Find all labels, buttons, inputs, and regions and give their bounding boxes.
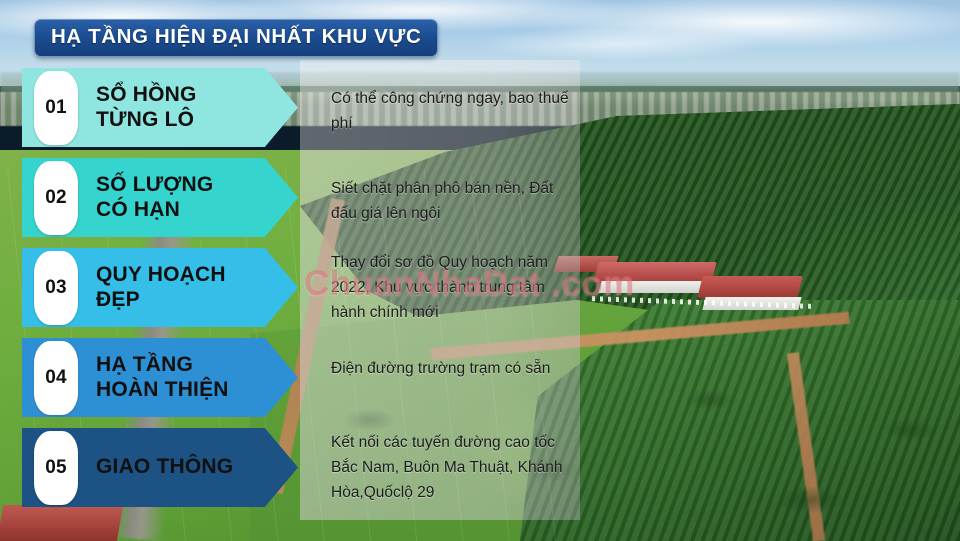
- infographic-poster: HẠ TẦNG HIỆN ĐẠI NHẤT KHU VỰC ChuanNhaDa…: [0, 0, 960, 541]
- feature-description-4: Điện đường trường trạm có sẵn: [331, 356, 581, 381]
- red-roof-building-4: [0, 505, 123, 541]
- feature-title-2: SỐ LƯỢNG CÓ HẠN: [96, 173, 213, 221]
- feature-title-2-line2: CÓ HẠN: [96, 198, 213, 222]
- feature-title-3: QUY HOẠCH ĐẸP: [96, 263, 226, 311]
- step-badge-1: 01: [34, 71, 78, 145]
- red-roof-building-2: [697, 276, 802, 298]
- page-title: HẠ TẦNG HIỆN ĐẠI NHẤT KHU VỰC: [51, 27, 421, 48]
- step-badge-5: 05: [34, 431, 78, 505]
- red-roof-building-1: [593, 262, 717, 282]
- feature-title-4-line1: HẠ TẦNG: [96, 353, 193, 376]
- feature-title-2-line1: SỐ LƯỢNG: [96, 173, 213, 196]
- feature-description-1: Có thể công chứng ngay, bao thuế phí: [331, 86, 581, 136]
- step-number-4: 04: [45, 367, 67, 389]
- step-badge-3: 03: [34, 251, 78, 325]
- feature-title-5: GIAO THÔNG: [96, 455, 233, 479]
- feature-description-2: Siết chặt phân phô bán nền, Đất đấu giá …: [331, 176, 581, 226]
- feature-title-1-line2: TỪNG LÔ: [96, 108, 197, 132]
- step-number-1: 01: [45, 97, 67, 119]
- step-number-3: 03: [45, 277, 67, 299]
- feature-title-4-line2: HOÀN THIỆN: [96, 378, 229, 402]
- title-banner: HẠ TẦNG HIỆN ĐẠI NHẤT KHU VỰC: [34, 19, 438, 57]
- feature-description-5: Kết nối các tuyến đường cao tốc Bắc Nam,…: [331, 430, 581, 505]
- feature-title-4: HẠ TẦNG HOÀN THIỆN: [96, 353, 229, 401]
- building-wall-1: [598, 281, 713, 293]
- step-badge-4: 04: [34, 341, 78, 415]
- step-number-2: 02: [45, 187, 67, 209]
- step-number-5: 05: [45, 457, 67, 479]
- step-badge-2: 02: [34, 161, 78, 235]
- feature-title-3-line1: QUY HOẠCH: [96, 263, 226, 286]
- feature-title-1: SỔ HỒNG TỪNG LÔ: [96, 83, 197, 131]
- feature-title-5-line1: GIAO THÔNG: [96, 455, 233, 478]
- feature-description-3: Thay đổi sơ đồ Quy hoạch năm 2022, Khu v…: [331, 250, 581, 325]
- feature-title-3-line2: ĐẸP: [96, 288, 226, 312]
- feature-title-1-line1: SỔ HỒNG: [96, 83, 197, 106]
